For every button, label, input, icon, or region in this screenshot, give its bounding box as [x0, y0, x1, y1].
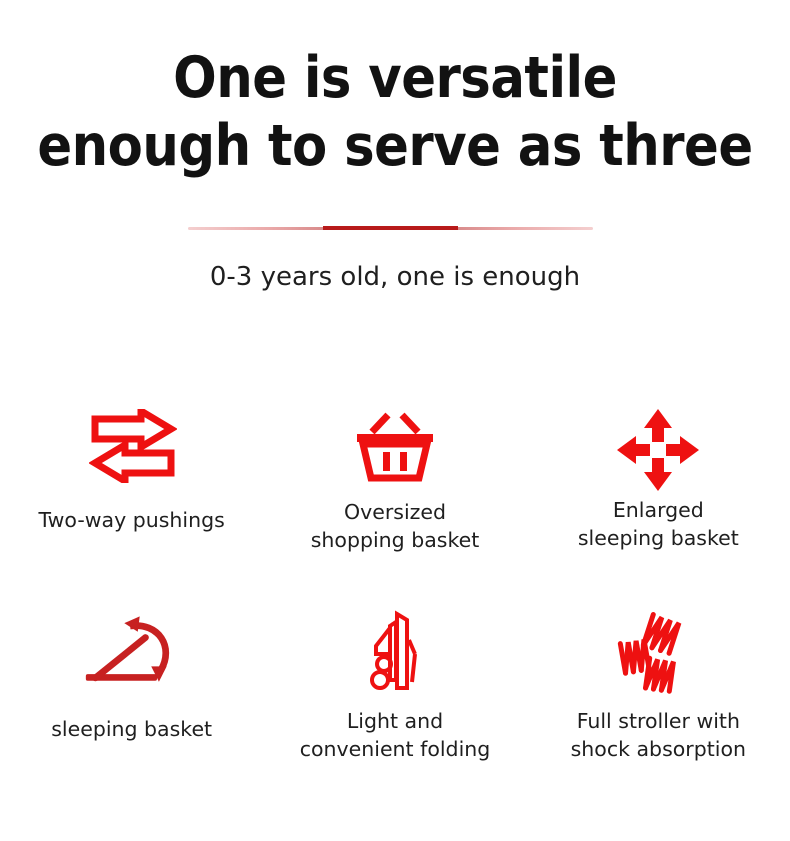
section-divider	[188, 226, 593, 230]
feature-row-2: sleeping basket	[0, 605, 790, 805]
adjustable-recline-icon	[82, 605, 182, 697]
shopping-basket-icon	[345, 400, 445, 492]
feature-caption: Oversized shopping basket	[311, 498, 480, 554]
feature-caption: Light and convenient folding	[300, 707, 491, 763]
feature-row-1: Two-way pushings Oversize	[0, 400, 790, 605]
feature-caption: Full stroller with shock absorption	[571, 707, 746, 763]
feature-item-shock-absorption: Full stroller with shock absorption	[527, 605, 790, 805]
feature-caption: Enlarged sleeping basket	[578, 496, 739, 552]
shock-absorption-springs-icon	[608, 605, 708, 697]
page-title: One is versatile enough to serve as thre…	[0, 44, 790, 180]
feature-item-enlarged-sleeping-basket: Enlarged sleeping basket	[527, 400, 790, 605]
feature-item-two-way-pushings: Two-way pushings	[0, 400, 263, 605]
feature-caption: sleeping basket	[51, 715, 212, 743]
feature-caption: Two-way pushings	[39, 506, 225, 534]
feature-item-light-convenient-folding: Light and convenient folding	[263, 605, 526, 805]
divider-center-segment	[323, 226, 458, 230]
page-subtitle: 0-3 years old, one is enough	[0, 260, 790, 294]
feature-item-sleeping-basket: sleeping basket	[0, 605, 263, 805]
four-direction-arrows-icon	[608, 404, 708, 496]
divider-right-segment	[458, 227, 593, 230]
divider-left-segment	[188, 227, 323, 230]
feature-grid: Two-way pushings Oversize	[0, 400, 790, 805]
page-title-line-1: One is versatile	[0, 44, 790, 112]
page-title-line-2: enough to serve as three	[0, 112, 790, 180]
feature-item-oversized-shopping-basket: Oversized shopping basket	[263, 400, 526, 605]
folded-stroller-icon	[345, 605, 445, 697]
two-way-arrows-icon	[83, 400, 183, 492]
